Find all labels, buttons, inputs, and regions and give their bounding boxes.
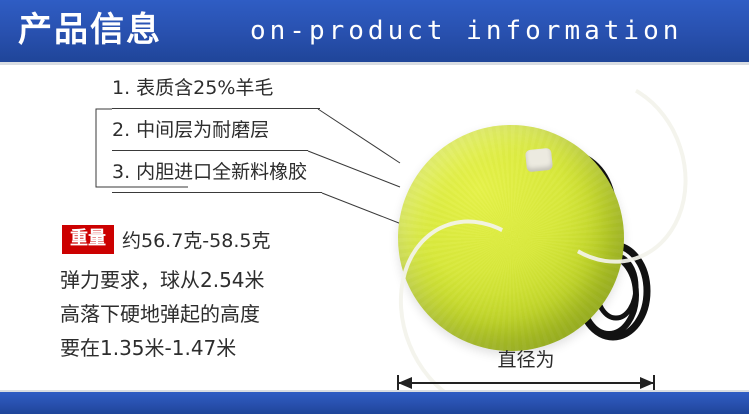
cord-knot [525,148,553,173]
header-title-english: on-product information [250,14,682,48]
page-footer [0,392,749,414]
content-area: 1. 表质含25%羊毛 2. 中间层为耐磨层 3. 内胆进口全新料橡胶 重量 约… [0,65,749,414]
feature-item-3-underline [112,192,322,193]
feature-list: 1. 表质含25%羊毛 2. 中间层为耐磨层 3. 内胆进口全新料橡胶 [112,71,412,197]
feature-item-1: 1. 表质含25%羊毛 [112,71,412,113]
feature-item-2: 2. 中间层为耐磨层 [112,113,412,155]
weight-badge: 重量 [62,225,114,254]
elasticity-line-3: 要在1.35米-1.47米 [60,331,350,365]
weight-value: 约56.7克-58.5克 [122,226,270,253]
left-arrow-icon [398,377,412,389]
header-title-chinese: 产品信息 [18,8,162,52]
feature-item-2-label: 2. 中间层为耐磨层 [112,115,273,142]
page-header: 产品信息 on-product information [0,0,749,62]
feature-item-1-underline [112,108,320,109]
feature-item-3: 3. 内胆进口全新料橡胶 [112,155,412,197]
elasticity-line-2: 高落下硬地弹起的高度 [60,297,350,331]
diameter-label: 直径为 [392,347,660,373]
right-arrow-icon [640,377,654,389]
weight-row: 重量 约56.7克-58.5克 [62,225,270,254]
feature-item-2-underline [112,150,308,151]
feature-item-1-label: 1. 表质含25%羊毛 [112,73,277,100]
product-info-page: 产品信息 on-product information 1. 表质含25%羊毛 … [0,0,749,414]
feature-item-3-label: 3. 内胆进口全新料橡胶 [112,157,311,184]
tennis-ball [398,125,624,351]
elasticity-line-1: 弹力要求，球从2.54米 [60,263,350,297]
elasticity-paragraph: 弹力要求，球从2.54米 高落下硬地弹起的高度 要在1.35米-1.47米 [60,263,350,365]
